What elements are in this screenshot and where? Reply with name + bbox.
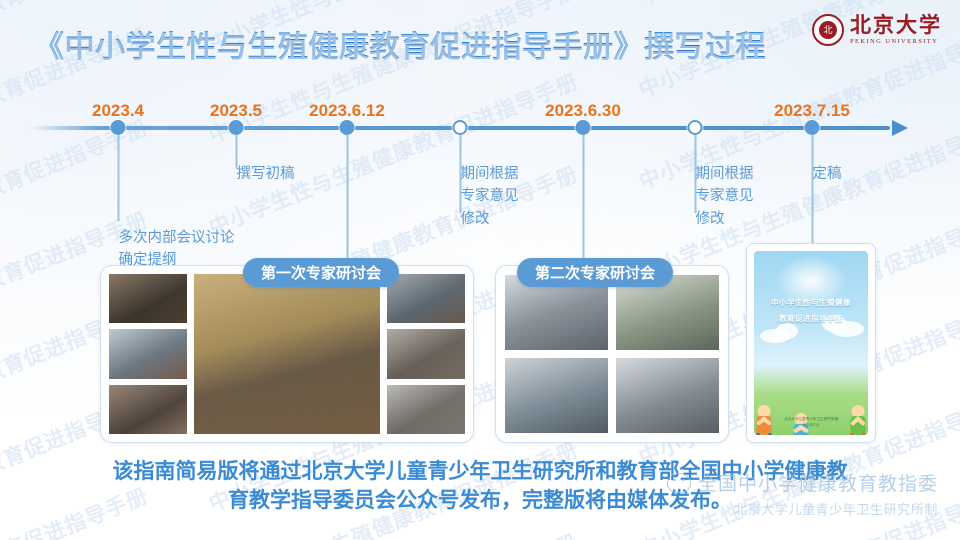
- timeline-node-3[interactable]: 2023.6.12: [340, 120, 355, 135]
- photo-thumb: [387, 385, 465, 434]
- timeline-node-label: 撰写初稿: [237, 163, 295, 185]
- cloud-shape: [776, 323, 798, 339]
- book-cover-image: 中小学生性与生殖健康 教育促进指导手册: [754, 251, 868, 435]
- page-title: 《中小学生性与生殖健康教育促进指导手册》撰写过程: [34, 22, 766, 66]
- photo-main-image: [194, 274, 380, 434]
- photo-thumb: [109, 385, 187, 434]
- timeline-node-4[interactable]: 期间根据专家意见修改: [453, 120, 468, 135]
- timeline-arrow-icon: [892, 120, 908, 136]
- timeline-node-5[interactable]: 2023.6.30: [576, 120, 591, 135]
- timeline-marker-hollow[interactable]: [688, 120, 703, 135]
- timeline-node-7[interactable]: 2023.7.15定稿: [805, 120, 820, 135]
- timeline-node-label: 期间根据专家意见修改: [696, 163, 754, 230]
- account-watermark: 全国中小学健康教育教指委: [667, 469, 938, 496]
- pku-name-cn: 北京大学: [850, 15, 942, 36]
- photo-main: [194, 274, 380, 434]
- photo-group-1: [100, 265, 474, 443]
- timeline-date: 2023.5: [210, 101, 262, 121]
- timeline-node-1[interactable]: 2023.4多次内部会议讨论确定提纲: [111, 120, 126, 135]
- photo-thumb: [109, 274, 187, 323]
- book-title-line2: 教育促进指导手册: [754, 313, 868, 324]
- timeline-label-line: 期间根据: [696, 163, 754, 185]
- photo-group-caption-1: 第一次专家研讨会: [243, 258, 399, 287]
- photo-thumb: [616, 358, 719, 433]
- timeline-marker-filled[interactable]: [805, 120, 820, 135]
- watermark-text: 中小学生性与生殖健康教育促进指导手册: [204, 526, 582, 540]
- timeline-marker-filled[interactable]: [340, 120, 355, 135]
- photo-group-caption-2: 第二次专家研讨会: [517, 258, 673, 287]
- photo-thumb: [387, 274, 465, 323]
- timeline-label-line: 多次内部会议讨论: [119, 227, 235, 249]
- timeline-node-label: 期间根据专家意见修改: [461, 163, 519, 230]
- wechat-icon: [667, 473, 691, 493]
- timeline-stem: [346, 135, 348, 263]
- photo-thumb: [109, 329, 187, 378]
- photo-column-right: [387, 274, 465, 434]
- timeline-marker-filled[interactable]: [111, 120, 126, 135]
- timeline-label-line: 修改: [461, 208, 519, 230]
- timeline-date: 2023.7.15: [774, 101, 850, 121]
- photo-column-left: [109, 274, 187, 434]
- peking-university-logo: 北 北京大学 PEKING UNIVERSITY: [812, 14, 942, 46]
- pku-seal-icon: 北: [812, 14, 844, 46]
- timeline-label-line: 期间根据: [461, 163, 519, 185]
- slide-header: 《中小学生性与生殖健康教育促进指导手册》撰写过程 北 北京大学 PEKING U…: [0, 0, 960, 82]
- timeline-node-6[interactable]: 期间根据专家意见修改: [688, 120, 703, 135]
- slide-canvas: 中小学生性与生殖健康教育促进指导手册中小学生性与生殖健康教育促进指导手册中小学生…: [0, 0, 960, 540]
- book-title-line1: 中小学生性与生殖健康: [754, 297, 868, 308]
- timeline-label-line: 专家意见: [461, 185, 519, 207]
- timeline-marker-filled[interactable]: [576, 120, 591, 135]
- timeline: 2023.4多次内部会议讨论确定提纲2023.5撰写初稿2023.6.12期间根…: [0, 126, 960, 130]
- watermark-text: 中小学生性与生殖健康教育促进指导手册: [204, 66, 582, 242]
- timeline-label-line: 专家意见: [696, 185, 754, 207]
- timeline-marker-filled[interactable]: [229, 120, 244, 135]
- account-name: 全国中小学健康教育教指委: [698, 469, 938, 496]
- timeline-date: 2023.6.30: [545, 101, 621, 121]
- timeline-node-label: 定稿: [813, 163, 842, 185]
- account-sub-watermark: 北京大学儿童青少年卫生研究所制: [734, 499, 938, 518]
- timeline-marker-hollow[interactable]: [453, 120, 468, 135]
- pku-name-en: PEKING UNIVERSITY: [850, 39, 942, 46]
- timeline-date: 2023.4: [92, 101, 144, 121]
- timeline-stem: [582, 135, 584, 263]
- book-cover-card: 中小学生性与生殖健康 教育促进指导手册: [746, 243, 876, 443]
- photo-thumb: [387, 329, 465, 378]
- timeline-label-line: 修改: [696, 208, 754, 230]
- timeline-date: 2023.6.12: [309, 101, 385, 121]
- book-credit: 北京大学儿童青少年卫生研究所编 2023年7月: [754, 417, 868, 428]
- photo-thumb: [505, 358, 608, 433]
- timeline-label-line: 定稿: [813, 163, 842, 185]
- timeline-label-line: 撰写初稿: [237, 163, 295, 185]
- book-credit-line2: 2023年7月: [754, 423, 868, 428]
- timeline-stem: [811, 135, 813, 255]
- timeline-stem: [117, 135, 119, 221]
- timeline-node-2[interactable]: 2023.5撰写初稿: [229, 120, 244, 135]
- pku-seal-glyph: 北: [819, 21, 837, 39]
- photo-group-2: [495, 265, 729, 443]
